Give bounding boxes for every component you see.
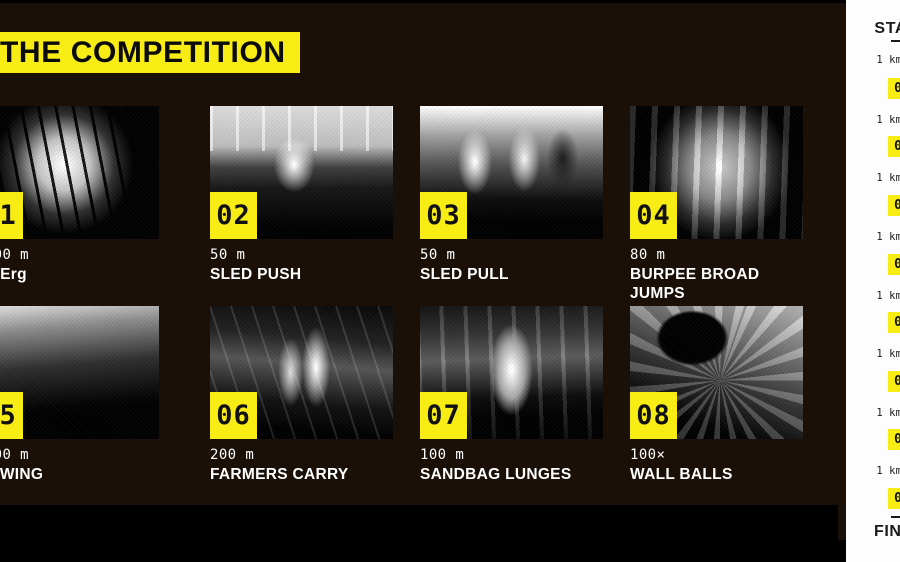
station-caption: 80 m BURPEE BROAD JUMPS: [630, 246, 759, 304]
timeline-run-label: 1 km RUN: [846, 172, 900, 184]
station-name: SANDBAG LUNGES: [420, 465, 571, 484]
station-name: WALL BALLS: [630, 465, 733, 484]
page-title-banner: THE COMPETITION: [0, 32, 300, 73]
station-number-badge: 06: [210, 392, 257, 439]
station-photo: [0, 306, 159, 439]
station-name: BURPEE BROAD: [630, 265, 759, 284]
station-caption: 50 m SLED PUSH: [210, 246, 301, 284]
station-caption: 1000 m ROWING: [0, 446, 43, 484]
timeline-run-label: 1 km RUN: [846, 231, 900, 243]
station-distance: 100 m: [420, 446, 571, 465]
station-distance: 1000 m: [0, 246, 29, 265]
station-name: FARMERS CARRY: [210, 465, 349, 484]
race-timeline-track: START 1 km RUN 01 1 km RUN 02 1 km RUN 0…: [846, 0, 900, 562]
station-number-badge: 08: [630, 392, 677, 439]
station-number-badge: 02: [210, 192, 257, 239]
station-distance: 50 m: [210, 246, 301, 265]
timeline-badge-05[interactable]: 05: [888, 312, 900, 333]
timeline-run-label: 1 km RUN: [846, 290, 900, 302]
timeline-finish-label: FINISH: [846, 523, 900, 541]
station-name: SkiErg: [0, 265, 29, 284]
station-photo-image: [0, 306, 159, 439]
timeline-run-label: 1 km RUN: [846, 54, 900, 66]
stations-grid: 01 1000 m SkiErg 02 50 m SLED PUSH: [0, 0, 838, 505]
station-number-badge: 01: [0, 192, 23, 239]
timeline-run-label: 1 km RUN: [846, 348, 900, 360]
station-photo-image: [0, 106, 159, 239]
station-number-badge: 07: [420, 392, 467, 439]
page-title: THE COMPETITION: [0, 38, 286, 68]
station-name-line2: JUMPS: [630, 284, 759, 303]
timeline-run-label: 1 km RUN: [846, 407, 900, 419]
station-distance: 200 m: [210, 446, 349, 465]
timeline-badge-08[interactable]: 08: [888, 488, 900, 509]
race-timeline-sidebar: START 1 km RUN 01 1 km RUN 02 1 km RUN 0…: [846, 0, 900, 562]
station-distance: 1000 m: [0, 446, 43, 465]
station-photo: [0, 106, 159, 239]
timeline-start-cap-icon: [891, 40, 900, 42]
station-name: SLED PUSH: [210, 265, 301, 284]
station-caption: 100 m SANDBAG LUNGES: [420, 446, 571, 484]
timeline-badge-07[interactable]: 07: [888, 429, 900, 450]
station-name: SLED PULL: [420, 265, 509, 284]
page-background-edge-strip: [838, 3, 846, 540]
station-distance: 50 m: [420, 246, 509, 265]
station-caption: 50 m SLED PULL: [420, 246, 509, 284]
competition-overview-screen: THE COMPETITION 01 1000 m SkiErg 02 50 m: [0, 0, 900, 562]
timeline-badge-02[interactable]: 02: [888, 136, 900, 157]
station-number-badge: 03: [420, 192, 467, 239]
station-distance: 80 m: [630, 246, 759, 265]
timeline-run-label: 1 km RUN: [846, 465, 900, 477]
station-distance: 100×: [630, 446, 733, 465]
station-caption: 100× WALL BALLS: [630, 446, 733, 484]
station-caption: 200 m FARMERS CARRY: [210, 446, 349, 484]
timeline-finish-cap-icon: [891, 516, 900, 518]
timeline-badge-04[interactable]: 04: [888, 254, 900, 275]
station-number-badge: 05: [0, 392, 23, 439]
timeline-badge-01[interactable]: 01: [888, 78, 900, 99]
timeline-badge-06[interactable]: 06: [888, 371, 900, 392]
station-caption: 1000 m SkiErg: [0, 246, 29, 284]
timeline-start-label: START: [846, 20, 900, 38]
timeline-run-label: 1 km RUN: [846, 114, 900, 126]
timeline-badge-03[interactable]: 03: [888, 195, 900, 216]
station-number-badge: 04: [630, 192, 677, 239]
station-name: ROWING: [0, 465, 43, 484]
